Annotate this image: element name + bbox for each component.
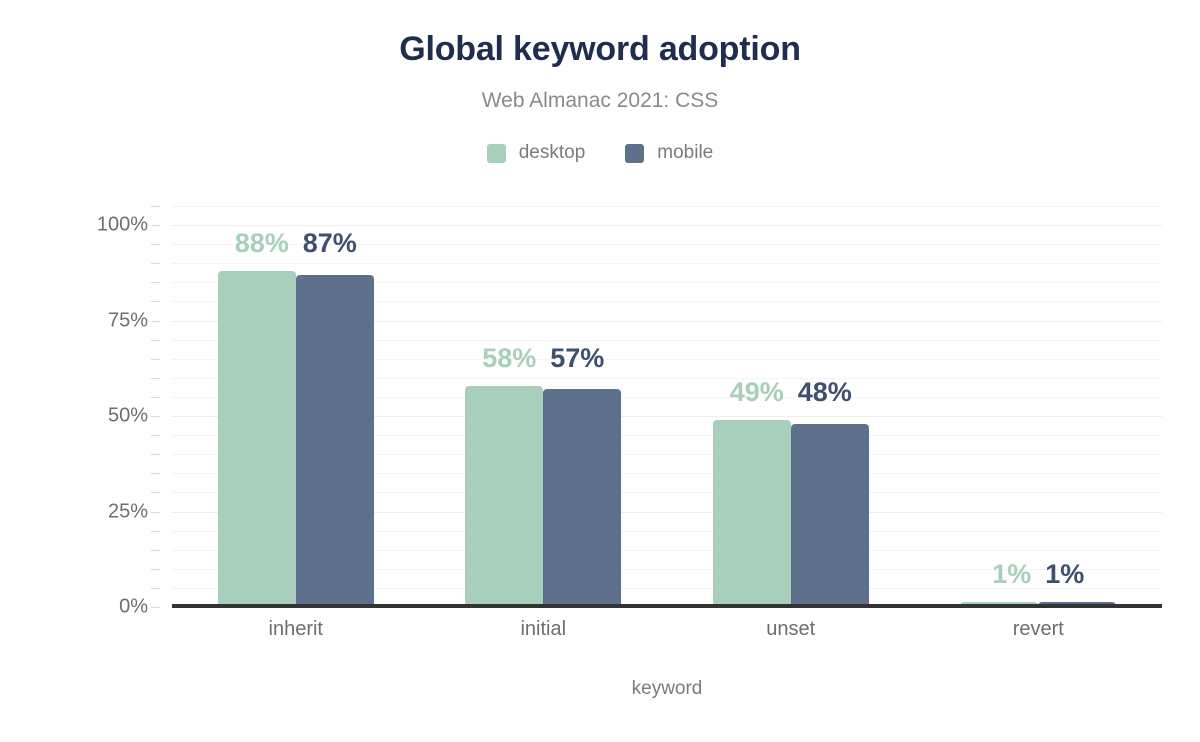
x-axis-tick-label-initial: initial <box>420 618 668 641</box>
x-axis-tick-label-inherit: inherit <box>172 618 420 641</box>
y-axis-tick-labels: 0%25%50%75%100% <box>0 206 160 607</box>
legend-item-mobile[interactable]: mobile <box>625 142 713 164</box>
x-axis-tick-labels: inheritinitialunsetrevert <box>172 618 1162 641</box>
y-axis-tick-mark <box>151 378 160 379</box>
y-axis-tick-mark <box>151 588 160 589</box>
y-axis-tick-mark <box>151 473 160 474</box>
y-axis-tick-mark <box>151 569 160 570</box>
y-axis-tick-mark <box>151 550 160 551</box>
chart-title: Global keyword adoption <box>0 30 1200 69</box>
bar-pair <box>667 206 915 607</box>
y-axis-tick-label: 75% <box>108 309 148 332</box>
y-axis-tick-mark <box>151 321 160 322</box>
bar-desktop-inherit[interactable] <box>218 271 296 607</box>
y-axis-tick-mark <box>151 340 160 341</box>
legend-swatch-desktop <box>487 144 506 163</box>
bar-desktop-initial[interactable] <box>465 386 543 608</box>
bar-mobile-inherit[interactable] <box>296 275 374 607</box>
y-axis-tick-mark <box>151 607 160 608</box>
x-axis-line <box>172 604 1162 608</box>
y-axis-tick-mark <box>151 492 160 493</box>
legend-swatch-mobile <box>625 144 644 163</box>
bar-mobile-initial[interactable] <box>543 389 621 607</box>
y-axis-tick-mark <box>151 359 160 360</box>
chart-legend: desktop mobile <box>0 142 1200 164</box>
bar-pair <box>420 206 668 607</box>
plot-area: 88%87%58%57%49%48%1%1% <box>172 206 1162 607</box>
y-axis-tick-mark <box>151 397 160 398</box>
y-axis-tick-mark <box>151 206 160 207</box>
x-axis-tick-label-unset: unset <box>667 618 915 641</box>
y-axis-tick-mark <box>151 454 160 455</box>
y-axis-tick-mark <box>151 512 160 513</box>
y-axis-tick-mark <box>151 263 160 264</box>
bar-groups: 88%87%58%57%49%48%1%1% <box>172 206 1162 607</box>
legend-label-desktop: desktop <box>519 142 586 164</box>
bar-group: 58%57% <box>420 206 668 607</box>
bar-group: 49%48% <box>667 206 915 607</box>
chart-container: Global keyword adoption Web Almanac 2021… <box>0 0 1200 742</box>
bar-desktop-unset[interactable] <box>713 420 791 607</box>
bar-group: 1%1% <box>915 206 1163 607</box>
y-axis-tick-label: 50% <box>108 405 148 428</box>
y-axis-tick-mark <box>151 301 160 302</box>
y-axis-tick-mark <box>151 531 160 532</box>
legend-item-desktop[interactable]: desktop <box>487 142 586 164</box>
y-axis-tick-label: 0% <box>119 596 148 619</box>
x-axis-tick-label-revert: revert <box>915 618 1163 641</box>
y-axis-tick-mark <box>151 282 160 283</box>
y-axis-tick-label: 25% <box>108 500 148 523</box>
bar-group: 88%87% <box>172 206 420 607</box>
y-axis-tick-mark <box>151 244 160 245</box>
bar-pair <box>172 206 420 607</box>
legend-label-mobile: mobile <box>657 142 713 164</box>
y-axis-tick-label: 100% <box>97 214 148 237</box>
y-axis-tick-mark <box>151 435 160 436</box>
bar-pair <box>915 206 1163 607</box>
bar-mobile-unset[interactable] <box>791 424 869 607</box>
y-axis-tick-mark <box>151 416 160 417</box>
chart-subtitle: Web Almanac 2021: CSS <box>0 89 1200 113</box>
y-axis-tick-mark <box>151 225 160 226</box>
x-axis-title: keyword <box>172 678 1162 700</box>
